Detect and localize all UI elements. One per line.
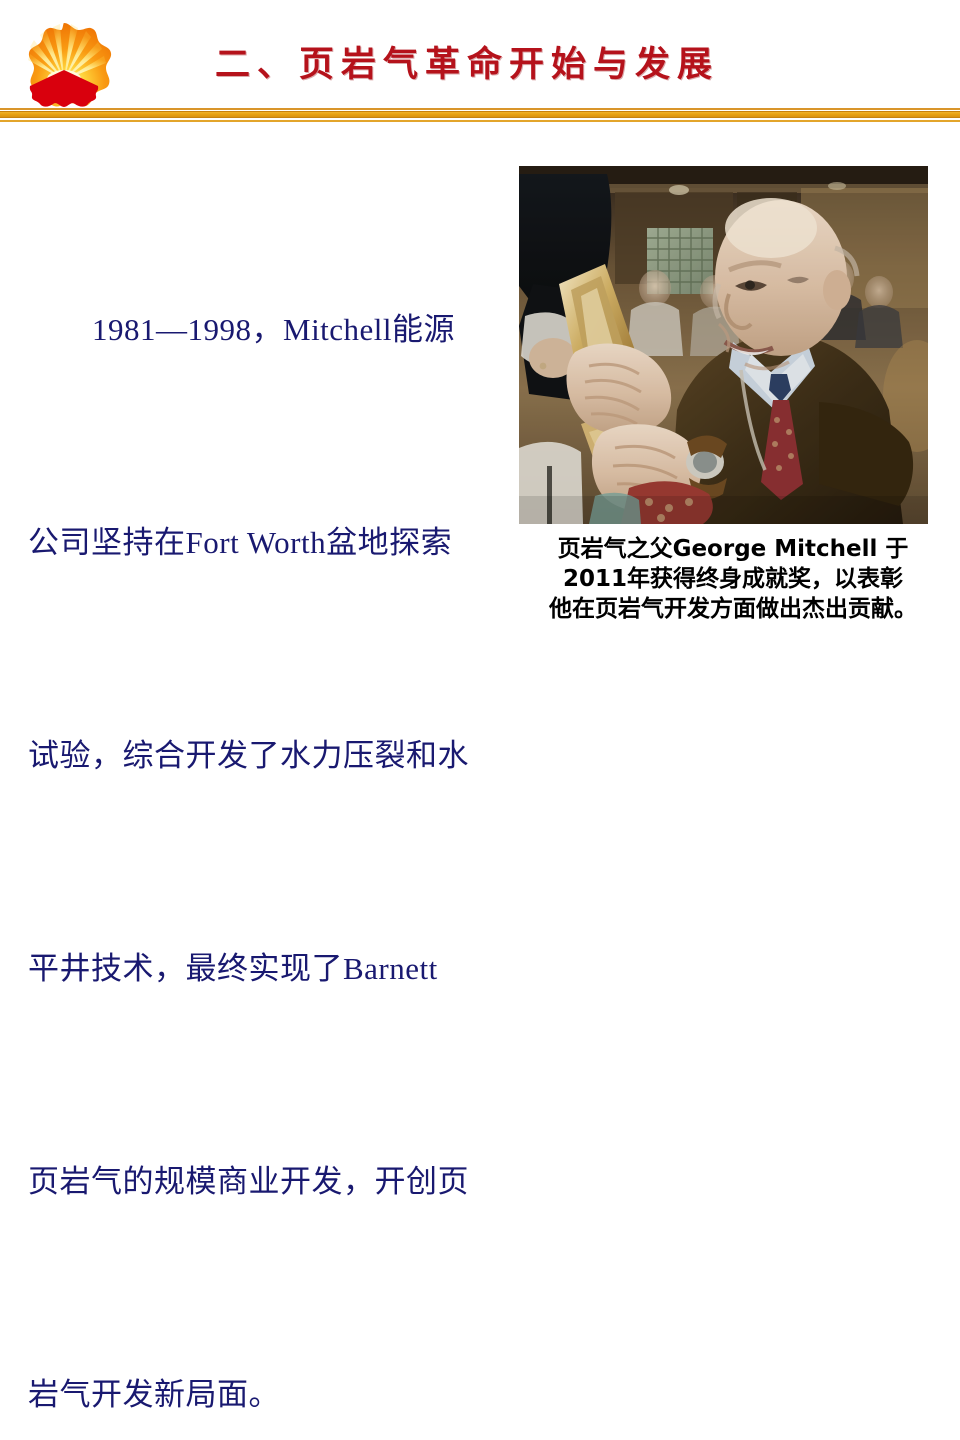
caption-line-2: 2011年获得终身成就奖，以表彰 (512, 564, 954, 594)
caption-line-3: 他在页岩气开发方面做出杰出贡献。 (512, 594, 954, 624)
caption-line-1: 页岩气之父George Mitchell 于 (512, 534, 954, 564)
cnpc-petrochina-sunburst-logo-icon (16, 20, 112, 112)
slide-header: 二、页岩气革命开始与发展 (0, 0, 960, 112)
body-line-1: 1981—1998，Mitchell能源 (28, 294, 498, 365)
photo-caption: 页岩气之父George Mitchell 于 2011年获得终身成就奖，以表彰 … (512, 534, 954, 624)
body-line-4: 平井技术，最终实现了Barnett (28, 933, 498, 1004)
slide-root: 二、页岩气革命开始与发展 1981—1998，Mitchell能源 公司坚持在F… (0, 0, 960, 720)
body-line-5: 页岩气的规模商业开发，开创页 (28, 1146, 498, 1217)
photo-frame (519, 166, 928, 524)
divider-rule-top (0, 108, 960, 110)
divider-gold-bar (0, 111, 960, 118)
body-line-6: 岩气开发新局面。 (28, 1359, 498, 1430)
divider-rule-bottom (0, 120, 960, 122)
body-line-2: 公司坚持在Fort Worth盆地探索 (28, 507, 498, 578)
body-line-3: 试验，综合开发了水力压裂和水 (28, 720, 498, 791)
header-divider (0, 108, 960, 122)
body-paragraph: 1981—1998，Mitchell能源 公司坚持在Fort Worth盆地探索… (28, 152, 498, 1440)
george-mitchell-award-photo (519, 166, 928, 524)
page-title: 二、页岩气革命开始与发展 (215, 36, 835, 94)
